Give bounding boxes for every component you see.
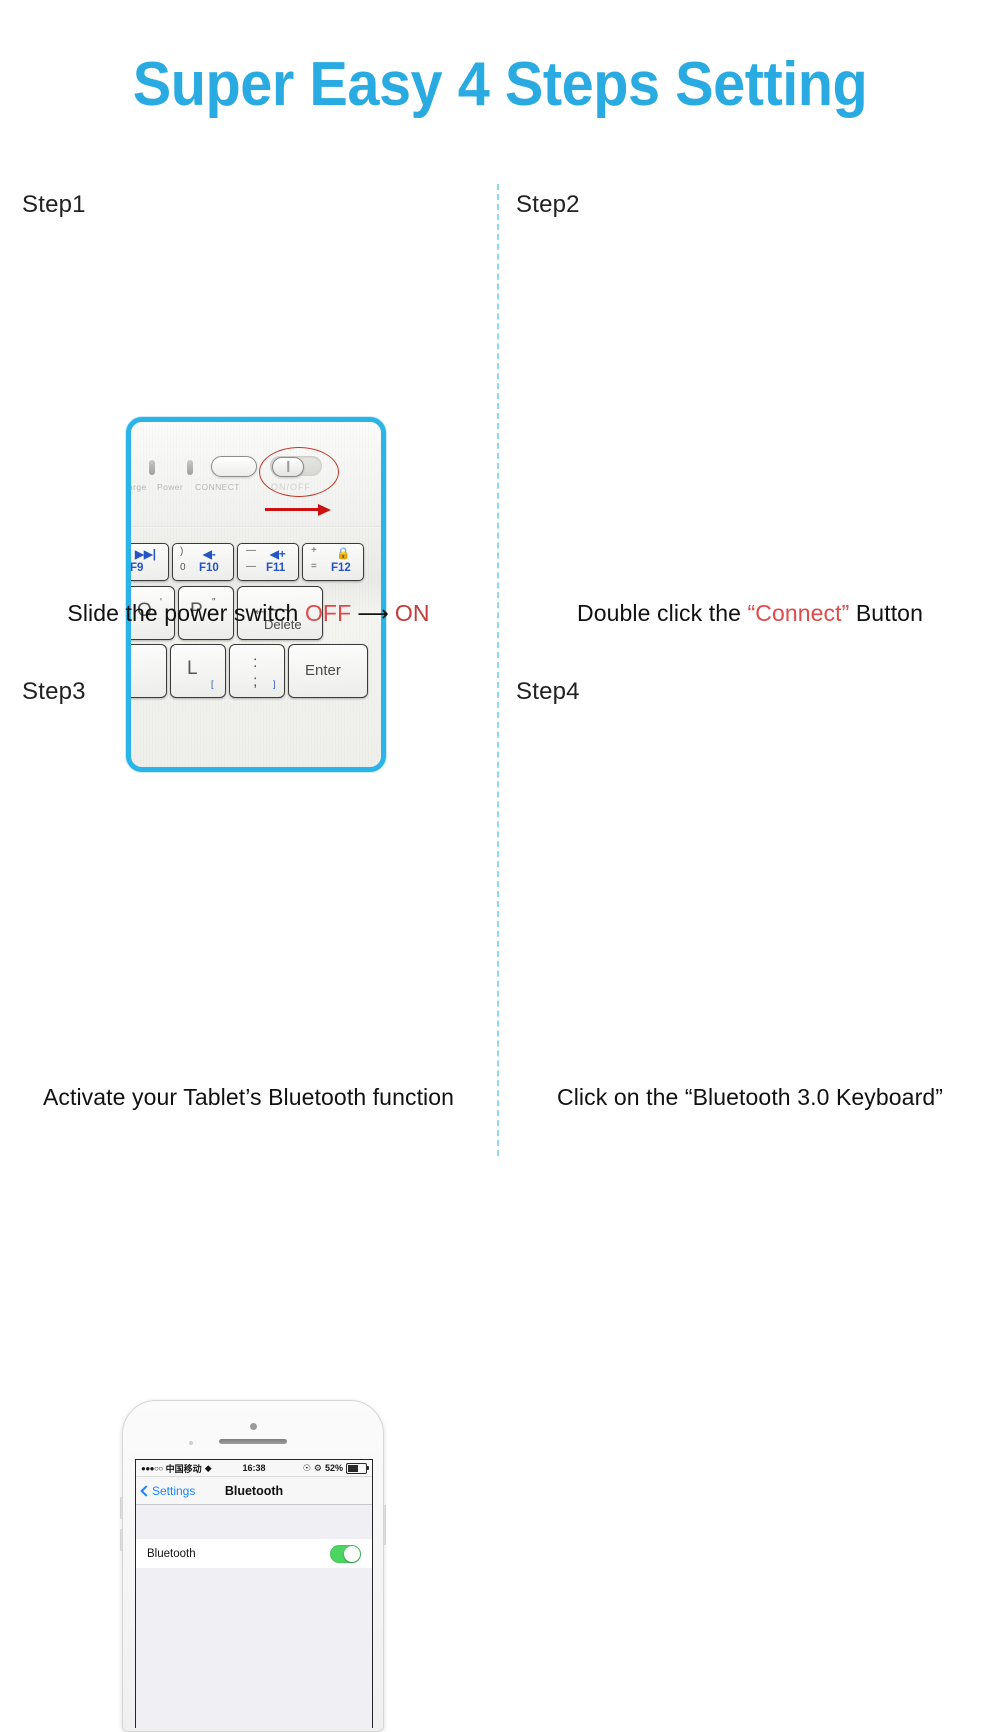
power-button[interactable] — [383, 1505, 386, 1545]
step-1-cell: Step1 arge Power CONNECT ON/OFF ▶▶| F9 )… — [0, 185, 497, 650]
led-label-connect: CONNECT — [195, 482, 240, 492]
step-4-caption: Click on the “Bluetooth 3.0 Keyboard” — [500, 1084, 1000, 1111]
key-f10[interactable]: ) ◀- 0 F10 — [172, 543, 234, 581]
key-f12[interactable]: + 🔒 = F12 — [302, 543, 364, 581]
status-time: 16:38 — [136, 1463, 372, 1473]
led-label-power: Power — [157, 482, 183, 492]
step-1-caption-on: ON — [395, 600, 430, 626]
step-1-label: Step1 — [22, 191, 86, 219]
step-2-caption: Double click the “Connect” Button — [500, 600, 1000, 627]
step-1-caption-off: OFF — [305, 600, 351, 626]
nav-bar: Settings Bluetooth — [136, 1477, 372, 1505]
step-2-caption-connect: “Connect” — [747, 600, 849, 626]
red-highlight-oval — [259, 447, 339, 497]
screen-spacer — [136, 1505, 372, 1539]
step-3-phone-mockup: ●●●○○ 中国移动 ◆ 16:38 ☉ ⚙ 52% Settings Blue… — [122, 1400, 384, 1732]
step-2-cell: Step2 CAPS ᛗ Charge Power CONNECT ▶|| 8 … — [500, 185, 1000, 650]
led-indicator-2 — [187, 460, 193, 475]
step-4-label: Step4 — [516, 678, 580, 706]
step-4-cell: Step4 ●●●○○ 中国移动 ◆ 16:38 ☉ ⚙ 52% — [500, 672, 1000, 1155]
proximity-sensor-icon — [189, 1441, 193, 1445]
step-1-caption-prefix: Slide the power switch — [67, 600, 305, 626]
camera-icon — [250, 1423, 257, 1430]
bluetooth-row-label: Bluetooth — [147, 1548, 196, 1560]
step-3-caption-text: Activate your Tablet’s Bluetooth functio… — [43, 1084, 454, 1110]
step-2-caption-prefix: Double click the — [577, 600, 747, 626]
led-indicator-1 — [149, 460, 155, 475]
step-1-caption: Slide the power switch OFF⟶ON — [0, 600, 497, 627]
page-title: Super Easy 4 Steps Setting — [35, 52, 965, 117]
step-2-label: Step2 — [516, 191, 580, 219]
vertical-divider — [497, 184, 499, 1156]
volume-down-button[interactable] — [120, 1529, 123, 1551]
volume-up-button[interactable] — [120, 1497, 123, 1519]
step-4-caption-text: Click on the “Bluetooth 3.0 Keyboard” — [557, 1084, 943, 1110]
nav-title: Bluetooth — [136, 1484, 372, 1498]
bluetooth-toggle[interactable] — [330, 1545, 361, 1563]
step-3-caption: Activate your Tablet’s Bluetooth functio… — [0, 1084, 497, 1111]
led-label-charge: arge — [128, 482, 147, 492]
speaker-grille-icon — [219, 1439, 287, 1444]
connect-button[interactable] — [211, 456, 257, 477]
red-arrow-right-icon — [265, 504, 333, 514]
phone-screen: ●●●○○ 中国移动 ◆ 16:38 ☉ ⚙ 52% Settings Blue… — [135, 1459, 373, 1728]
keyboard-seam — [131, 526, 381, 528]
status-bar: ●●●○○ 中国移动 ◆ 16:38 ☉ ⚙ 52% — [136, 1460, 372, 1477]
battery-icon — [346, 1463, 367, 1474]
step-2-caption-suffix: Button — [849, 600, 923, 626]
bluetooth-toggle-row[interactable]: Bluetooth — [136, 1539, 372, 1568]
key-f9[interactable]: ▶▶| F9 — [126, 543, 169, 581]
key-f11[interactable]: — ◀+ — F11 — [237, 543, 299, 581]
step-1-caption-arrow-icon: ⟶ — [351, 601, 395, 627]
step-3-label: Step3 — [22, 678, 86, 706]
step-3-cell: Step3 ●●●○○ 中国移动 ◆ 16:38 ☉ ⚙ 52% — [0, 672, 497, 1155]
